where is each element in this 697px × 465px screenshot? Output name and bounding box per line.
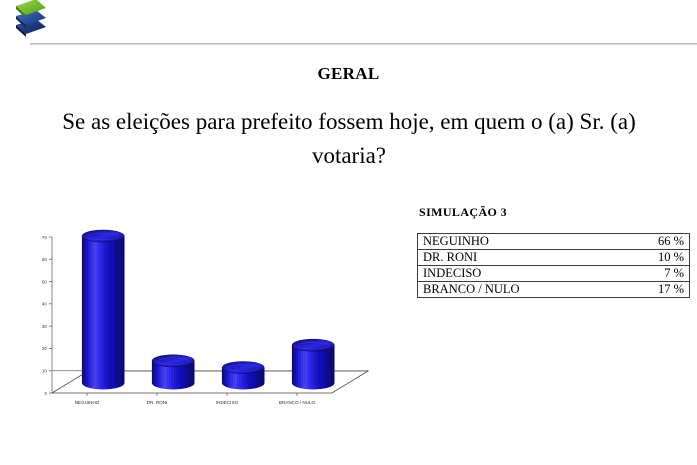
- svg-text:50: 50: [42, 279, 48, 284]
- bar-0: [82, 230, 124, 389]
- candidate-percentage: 66 %: [617, 234, 690, 250]
- bar-2: [222, 362, 264, 390]
- svg-text:70: 70: [42, 235, 48, 240]
- results-table: NEGUINHO 66 % DR. RONI 10 % INDECISO 7 %…: [417, 233, 690, 298]
- table-row: BRANCO / NULO 17 %: [418, 282, 690, 298]
- candidate-name: NEGUINHO: [418, 234, 618, 250]
- category-label-1: DR. RONI: [147, 400, 168, 405]
- candidate-percentage: 7 %: [617, 266, 690, 282]
- category-label-3: BRANCO / NULO: [279, 400, 316, 405]
- svg-text:40: 40: [42, 302, 48, 307]
- svg-text:0: 0: [44, 391, 47, 396]
- category-label-2: INDECISO: [216, 400, 239, 405]
- bar-chart: 010203040506070NEGUINHODR. RONIINDECISOB…: [0, 225, 400, 435]
- candidate-percentage: 10 %: [617, 250, 690, 266]
- svg-text:30: 30: [42, 324, 48, 329]
- chart-canvas: 010203040506070NEGUINHODR. RONIINDECISOB…: [0, 225, 400, 435]
- question-text: Se as eleições para prefeito fossem hoje…: [24, 105, 674, 173]
- table-row: INDECISO 7 %: [418, 266, 690, 282]
- table-row: NEGUINHO 66 %: [418, 234, 690, 250]
- svg-text:60: 60: [42, 257, 48, 262]
- candidate-name: BRANCO / NULO: [418, 282, 618, 298]
- simulation-heading: SIMULAÇÃO 3: [419, 205, 507, 220]
- svg-text:10: 10: [42, 369, 48, 374]
- table-row: DR. RONI 10 %: [418, 250, 690, 266]
- bar-3: [292, 339, 334, 389]
- bar-1: [152, 355, 194, 389]
- page-title: GERAL: [0, 64, 697, 84]
- stacked-layers-logo-icon: [14, 0, 52, 42]
- candidate-name: DR. RONI: [418, 250, 618, 266]
- svg-text:20: 20: [42, 346, 48, 351]
- candidate-name: INDECISO: [418, 266, 618, 282]
- candidate-percentage: 17 %: [617, 282, 690, 298]
- header-divider: [30, 43, 697, 45]
- page-header: [0, 0, 697, 48]
- category-label-0: NEGUINHO: [75, 400, 100, 405]
